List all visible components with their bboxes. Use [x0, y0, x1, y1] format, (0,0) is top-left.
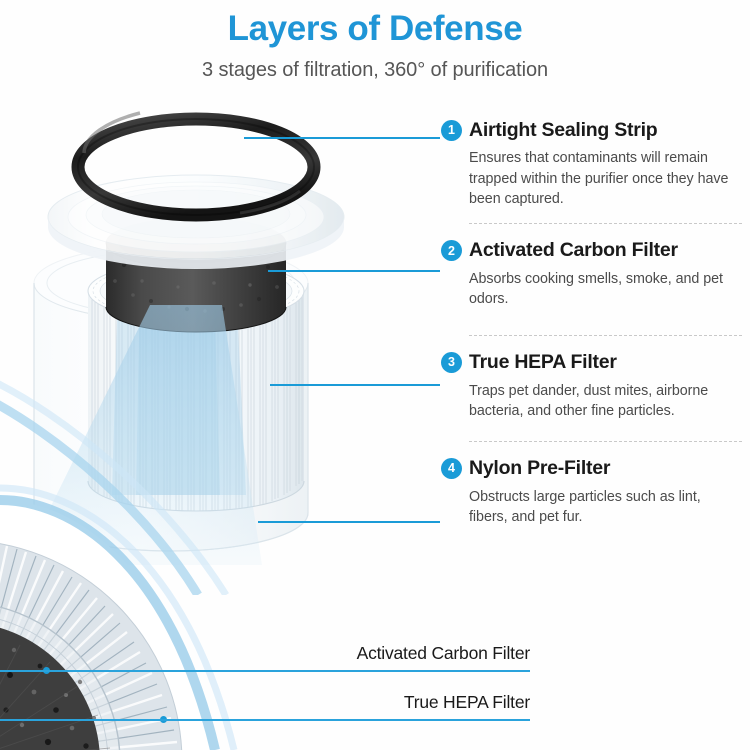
header: Layers of Defense 3 stages of filtration… — [0, 0, 750, 82]
callout-item-4: 4 Nylon Pre-Filter Obstructs large parti… — [432, 456, 742, 527]
leader-line-3 — [270, 384, 440, 386]
callout-item-2: 2 Activated Carbon Filter Absorbs cookin… — [432, 238, 742, 309]
infographic-canvas: Layers of Defense 3 stages of filtration… — [0, 0, 750, 750]
callout-badge-4: 4 — [441, 458, 462, 479]
callout-divider-3 — [469, 441, 742, 442]
callout-item-3: 3 True HEPA Filter Traps pet dander, dus… — [432, 350, 742, 421]
callout-title-4: Nylon Pre-Filter — [469, 456, 742, 480]
bottom-label-true-hepa: True HEPA Filter — [230, 692, 530, 713]
callout-title-1: Airtight Sealing Strip — [469, 118, 742, 142]
callout-badge-3: 3 — [441, 352, 462, 373]
callout-list: 1 Airtight Sealing Strip Ensures that co… — [432, 118, 742, 527]
leader-line-2 — [268, 270, 440, 272]
bottom-rule-hepa — [0, 719, 530, 721]
callout-item-1: 1 Airtight Sealing Strip Ensures that co… — [432, 118, 742, 209]
page-subtitle: 3 stages of filtration, 360° of purifica… — [0, 59, 750, 82]
callout-badge-2: 2 — [441, 240, 462, 261]
callout-description-1: Ensures that contaminants will remain tr… — [469, 148, 742, 209]
callout-description-4: Obstructs large particles such as lint, … — [469, 487, 742, 528]
callout-description-2: Absorbs cooking smells, smoke, and pet o… — [469, 269, 742, 310]
page-title: Layers of Defense — [0, 8, 750, 50]
callout-divider-1 — [469, 223, 742, 224]
leader-line-4 — [258, 521, 440, 523]
bottom-rule-carbon — [0, 670, 530, 672]
callout-title-3: True HEPA Filter — [469, 350, 742, 374]
callout-description-3: Traps pet dander, dust mites, airborne b… — [469, 381, 742, 422]
callout-badge-1: 1 — [441, 120, 462, 141]
callout-title-2: Activated Carbon Filter — [469, 238, 742, 262]
leader-line-1 — [244, 137, 440, 139]
bottom-label-activated-carbon: Activated Carbon Filter — [230, 643, 530, 664]
callout-divider-2 — [469, 335, 742, 336]
